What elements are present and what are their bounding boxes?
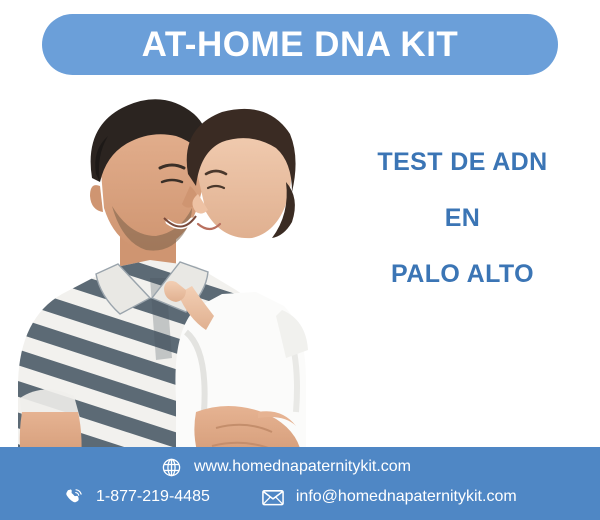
footer-phone-label: 1-877-219-4485 (96, 489, 210, 505)
headline-line-location: PALO ALTO (340, 262, 585, 287)
footer-contact-bar: www.homednapaternitykit.com 1-877-219-44… (0, 447, 600, 520)
headline-line-preposition: EN (340, 206, 585, 231)
footer-email-label: info@homednapaternitykit.com (296, 489, 517, 505)
envelope-icon (262, 486, 284, 508)
family-photo-illustration (0, 82, 340, 474)
footer-email[interactable]: info@homednapaternitykit.com (262, 486, 517, 508)
footer-phone[interactable]: 1-877-219-4485 (62, 486, 210, 508)
footer-website[interactable]: www.homednapaternitykit.com (160, 456, 411, 478)
headline-line-service: TEST DE ADN (340, 150, 585, 175)
footer-row-website: www.homednapaternitykit.com (160, 456, 411, 478)
page-title: AT-HOME DNA KIT (142, 27, 459, 62)
promo-card: AT-HOME DNA KIT (0, 0, 600, 520)
header-banner: AT-HOME DNA KIT (42, 14, 558, 75)
phone-icon (62, 486, 84, 508)
footer-row-contact: 1-877-219-4485 info@homednapaternitykit.… (62, 486, 517, 508)
globe-icon (160, 456, 182, 478)
family-photo (0, 82, 340, 474)
footer-website-label: www.homednapaternitykit.com (194, 459, 411, 475)
headline-block: TEST DE ADN EN PALO ALTO (340, 150, 585, 287)
